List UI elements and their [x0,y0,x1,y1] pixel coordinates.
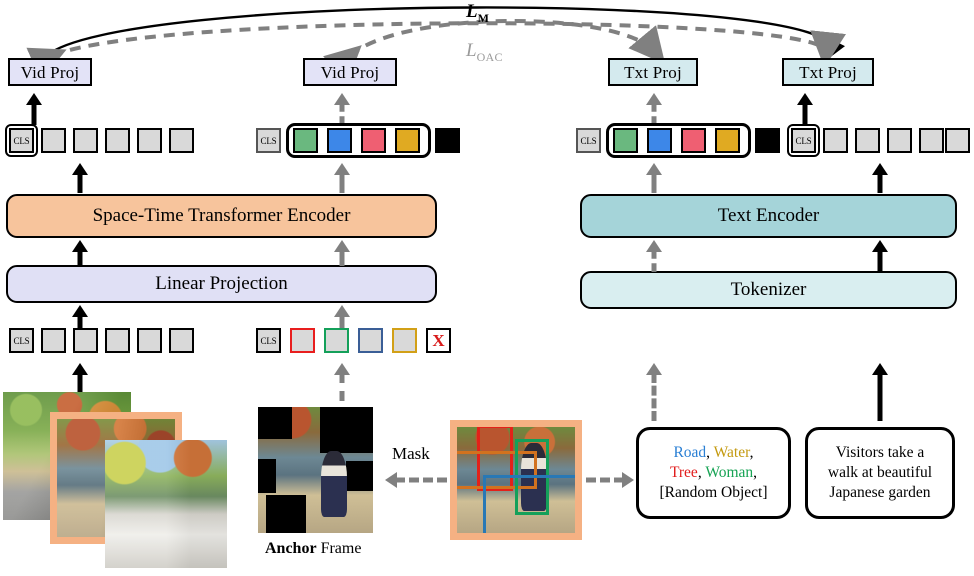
token-text-right-5[interactable] [945,128,970,153]
vid-proj-mid[interactable]: Vid Proj [303,58,397,86]
space-time-transformer-encoder[interactable]: Space-Time Transformer Encoder [6,194,437,238]
text-encoder[interactable]: Text Encoder [580,194,957,238]
token-cls-video-mid[interactable]: CLS [256,128,281,153]
token-text-right-3[interactable] [887,128,912,153]
linear-projection[interactable]: Linear Projection [6,265,437,303]
token-object-green-text[interactable] [613,128,638,153]
mask-arrow [385,474,447,486]
linear-projection-label: Linear Projection [155,273,287,295]
txt-proj-right-label: Txt Proj [799,64,857,81]
token-cls-video-left[interactable]: CLS [9,128,34,153]
vid-proj-left[interactable]: Vid Proj [8,58,92,86]
token-object-blue-video[interactable] [327,128,352,153]
vid-proj-mid-label: Vid Proj [321,64,380,81]
loss-oac-label: LOAC [466,40,503,65]
token-object-black-video[interactable] [435,128,460,153]
object-prompt-line-1: Road, Water, [673,443,753,463]
token-patch-left-4[interactable] [137,328,162,353]
token-cls-text-mid[interactable]: CLS [576,128,601,153]
anchor-frame-image [258,407,373,533]
arrow-objectframe-to-prompt [586,474,634,486]
token-masked-x[interactable]: X [426,328,451,353]
token-object-gold-text[interactable] [715,128,740,153]
architecture-diagram: LM LOAC Vid Proj Vid Proj Txt Proj Txt P… [0,0,974,576]
token-masked-gold[interactable] [392,328,417,353]
object-prompt-line-3: [Random Object] [659,483,767,503]
loss-masked-arc [46,7,831,56]
tokenizer-label: Tokenizer [731,279,807,301]
token-cls-text-right[interactable]: CLS [791,128,816,153]
object-annotated-frame [450,420,582,540]
loss-oac-arc-outer [52,23,826,56]
txt-proj-mid-label: Txt Proj [624,64,682,81]
token-cls-patch-left[interactable]: CLS [9,328,34,353]
video-frame-3 [105,440,227,568]
token-object-pink-video[interactable] [361,128,386,153]
bbox-road [483,475,582,537]
token-object-pink-text[interactable] [681,128,706,153]
mask-label: Mask [392,444,430,464]
object-prompt-box[interactable]: Road, Water, Tree, Woman, [Random Object… [636,427,791,519]
token-object-blue-text[interactable] [647,128,672,153]
token-masked-red[interactable] [290,328,315,353]
text-encoder-label: Text Encoder [718,205,820,227]
token-text-right-4[interactable] [919,128,944,153]
vid-proj-left-label: Vid Proj [21,64,80,81]
anchor-frame-caption: Anchor Frame [265,540,361,558]
token-masked-green[interactable] [324,328,349,353]
object-prompt-line-2: Tree, Woman, [670,463,757,483]
txt-proj-right[interactable]: Txt Proj [782,58,874,86]
token-cls-masked[interactable]: CLS [256,328,281,353]
token-object-green-video[interactable] [293,128,318,153]
token-text-right-1[interactable] [823,128,848,153]
space-time-transformer-encoder-label: Space-Time Transformer Encoder [93,205,351,227]
token-patch-left-5[interactable] [169,328,194,353]
token-video-left-3[interactable] [105,128,130,153]
token-patch-left-3[interactable] [105,328,130,353]
tokenizer[interactable]: Tokenizer [580,271,957,309]
token-video-left-1[interactable] [41,128,66,153]
txt-proj-mid[interactable]: Txt Proj [608,58,698,86]
caption-line-2: walk at beautiful [828,463,932,483]
caption-text-box[interactable]: Visitors take a walk at beautiful Japane… [805,427,955,519]
caption-line-3: Japanese garden [829,483,930,503]
token-object-black-text[interactable] [755,128,780,153]
token-video-left-5[interactable] [169,128,194,153]
token-patch-left-1[interactable] [41,328,66,353]
token-text-right-2[interactable] [855,128,880,153]
token-video-left-4[interactable] [137,128,162,153]
caption-line-1: Visitors take a [836,443,925,463]
token-video-left-2[interactable] [73,128,98,153]
token-masked-blue[interactable] [358,328,383,353]
token-patch-left-2[interactable] [73,328,98,353]
loss-masked-label: LM [466,1,489,26]
token-object-gold-video[interactable] [395,128,420,153]
